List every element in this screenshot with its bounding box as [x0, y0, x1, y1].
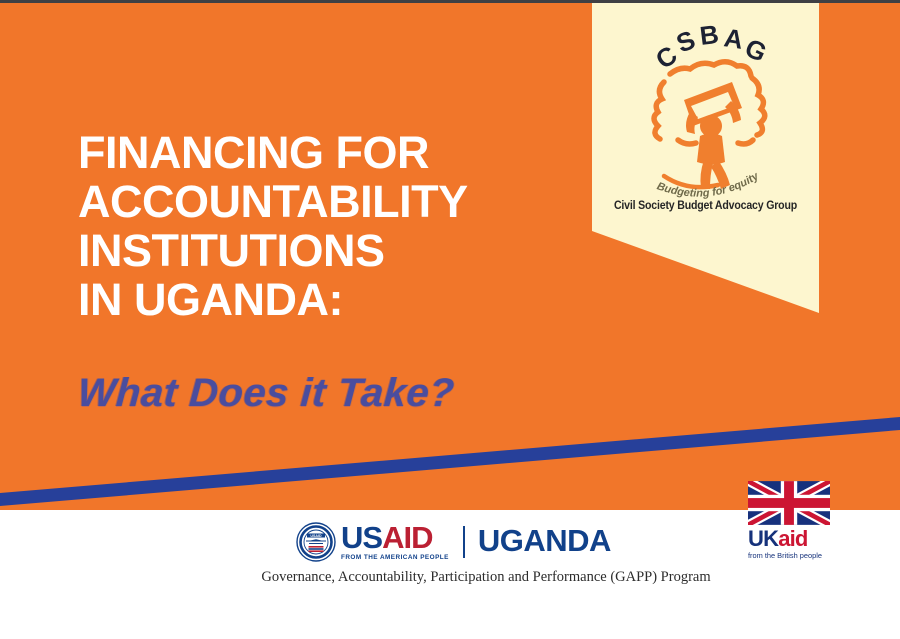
- usaid-uganda-logo: USAID USAID FROM THE AMERICAN PEOPLE UGA…: [296, 522, 611, 562]
- ukaid-aid-text: aid: [778, 526, 807, 551]
- csbag-logo-icon: C S B A G: [592, 12, 819, 202]
- report-cover-page: C S B A G: [0, 0, 900, 639]
- usaid-wordmark: USAID FROM THE AMERICAN PEOPLE: [341, 522, 449, 562]
- usaid-tagline: FROM THE AMERICAN PEOPLE: [341, 554, 449, 561]
- csbag-caption: Civil Society Budget Advocacy Group: [601, 200, 810, 212]
- usaid-us-text: US: [341, 520, 382, 555]
- svg-text:USAID: USAID: [310, 534, 322, 538]
- usaid-divider: [463, 526, 465, 558]
- ukaid-wordmark: UKaid: [748, 527, 832, 550]
- title-line-2: ACCOUNTABILITY: [78, 177, 468, 226]
- gapp-program-line: Governance, Accountability, Participatio…: [0, 569, 900, 586]
- ukaid-logo: UKaid from the British people: [748, 481, 832, 560]
- usaid-aid-text: AID: [382, 520, 432, 555]
- usaid-word-top: USAID: [341, 523, 449, 553]
- page-subtitle: What Does it Take?: [76, 371, 456, 416]
- title-line-1: FINANCING FOR: [78, 128, 468, 177]
- csbag-letter-a: A: [722, 22, 745, 55]
- title-line-3: INSTITUTIONS: [78, 226, 468, 275]
- top-edge-rule: [0, 0, 900, 3]
- union-jack-flag-icon: [748, 481, 830, 525]
- page-title: FINANCING FOR ACCOUNTABILITY INSTITUTION…: [78, 128, 468, 324]
- csbag-letter-s: S: [672, 24, 699, 58]
- usaid-country-text: UGANDA: [478, 525, 611, 556]
- ukaid-uk-text: UK: [748, 526, 778, 551]
- ukaid-tagline: from the British people: [748, 551, 832, 560]
- usaid-seal-icon: USAID: [296, 522, 336, 562]
- csbag-letter-g: G: [740, 32, 771, 68]
- title-line-4: IN UGANDA:: [78, 275, 468, 324]
- csbag-letter-b: B: [698, 19, 720, 51]
